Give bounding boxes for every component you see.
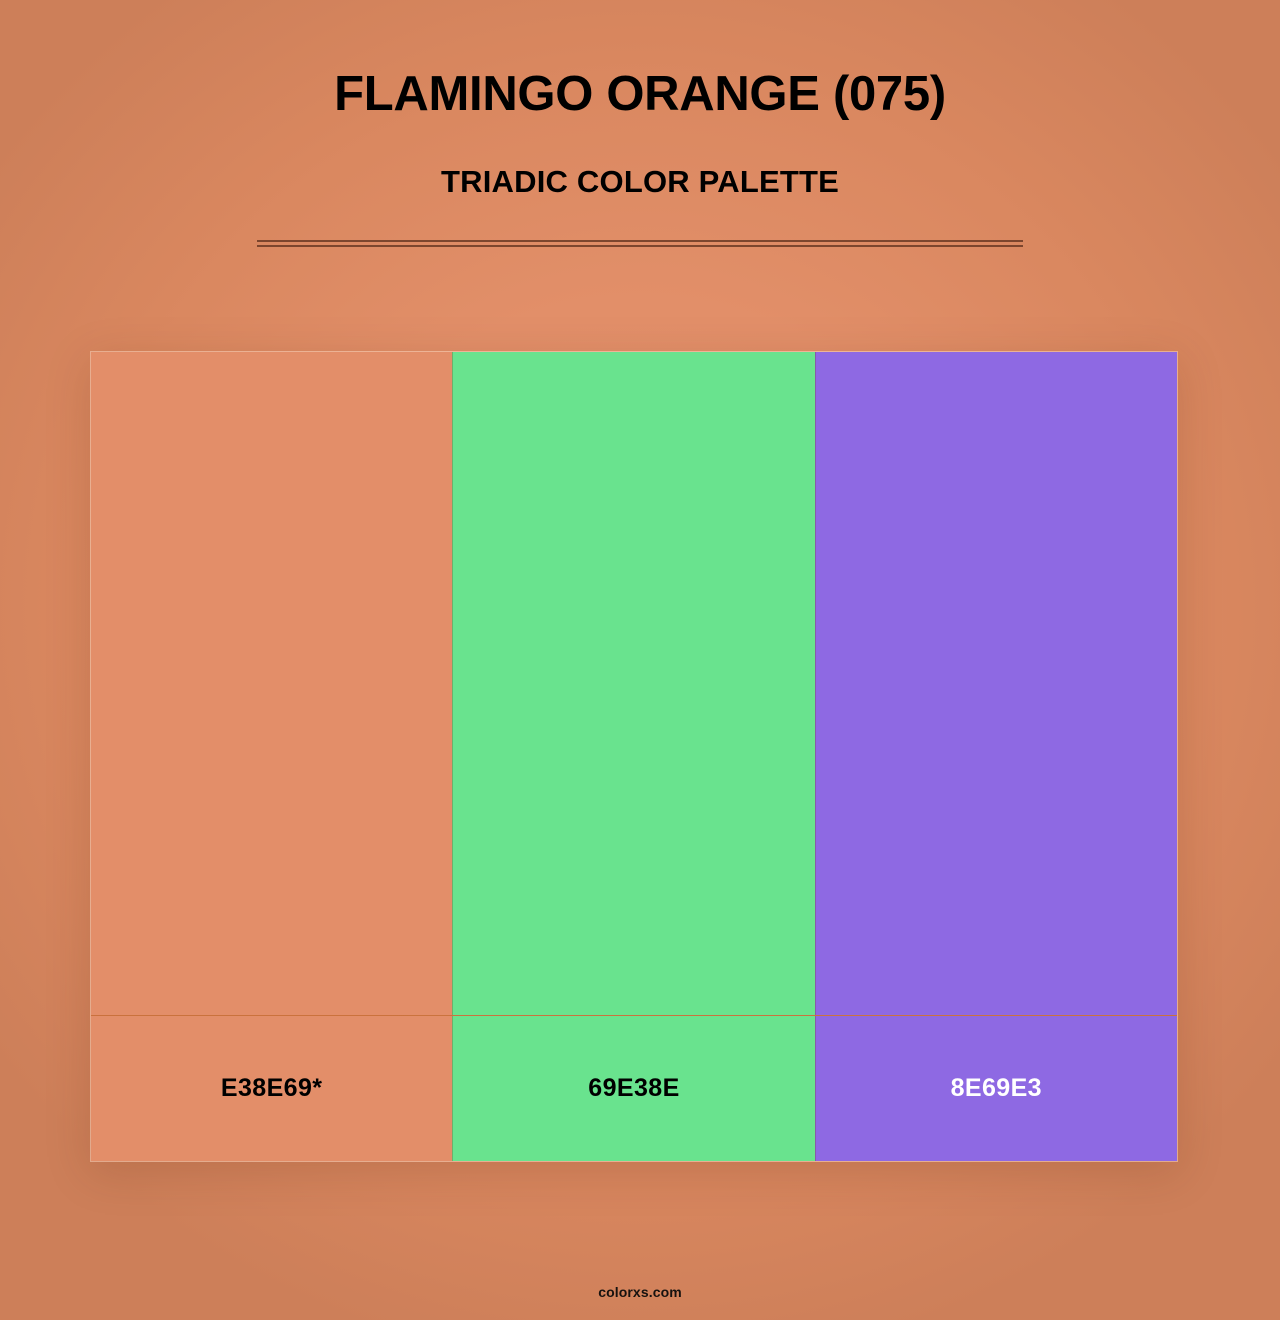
color-label-1: E38E69* <box>221 1074 323 1103</box>
header-divider <box>257 240 1023 246</box>
color-label-cell-2[interactable]: 69E38E <box>452 1016 814 1161</box>
color-label-cell-3[interactable]: 8E69E3 <box>815 1016 1177 1161</box>
color-swatch-1[interactable] <box>91 352 452 1015</box>
page-footer: colorxs.com <box>0 1284 1280 1302</box>
color-swatch-3[interactable] <box>815 352 1177 1015</box>
footer-site-name: colorxs.com <box>598 1284 682 1300</box>
page-subtitle: TRIADIC COLOR PALETTE <box>0 121 1280 200</box>
palette-card: E38E69* 69E38E 8E69E3 <box>90 351 1178 1162</box>
palette-card-wrapper: E38E69* 69E38E 8E69E3 <box>90 351 1178 1162</box>
color-label-3: 8E69E3 <box>951 1074 1042 1103</box>
color-label-cell-1[interactable]: E38E69* <box>91 1016 452 1161</box>
color-label-2: 69E38E <box>588 1074 679 1103</box>
page-header: FLAMINGO ORANGE (075) TRIADIC COLOR PALE… <box>0 0 1280 246</box>
swatch-label-row: E38E69* 69E38E 8E69E3 <box>91 1015 1177 1161</box>
palette-page: FLAMINGO ORANGE (075) TRIADIC COLOR PALE… <box>0 0 1280 1320</box>
divider-line-top <box>257 240 1023 242</box>
swatch-row <box>91 352 1177 1015</box>
divider-line-bottom <box>257 245 1023 247</box>
page-title: FLAMINGO ORANGE (075) <box>0 68 1280 121</box>
color-swatch-2[interactable] <box>452 352 814 1015</box>
